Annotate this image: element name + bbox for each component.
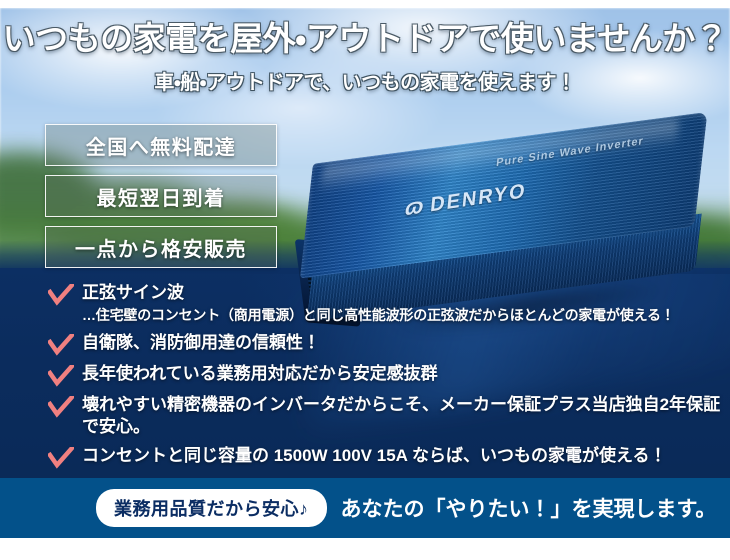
feature-title: 長年使われている業務用対応だから安定感抜群	[82, 364, 438, 383]
feature-item-sine-wave: 正弦サイン波 …住宅壁のコンセント（商用電源）と同じ高性能波形の正弦波だからほと…	[48, 282, 728, 325]
denryo-logo-icon: ɷ	[404, 192, 427, 222]
sub-headline: 車・船・アウトドアで、いつもの家電を使えます！	[0, 66, 730, 95]
benefit-badge-label: 最短翌日到着	[97, 182, 226, 211]
feature-title: 自衛隊、消防御用達の信頼性！	[82, 333, 320, 352]
check-icon	[48, 396, 74, 418]
benefit-badge-free-delivery: 全国へ無料配達	[45, 124, 277, 166]
benefit-badge-next-day: 最短翌日到着	[45, 175, 277, 217]
bottom-white-margin	[0, 538, 730, 560]
feature-description: …住宅壁のコンセント（商用電源）と同じ高性能波形の正弦波だからほとんどの家電が使…	[82, 306, 728, 325]
promo-banner: ɷDENRYO Pure Sine Wave Inverter いつもの家電を屋…	[0, 0, 730, 560]
feature-list: 正弦サイン波 …住宅壁のコンセント（商用電源）と同じ高性能波形の正弦波だからほと…	[48, 282, 728, 476]
benefit-badge-label: 一点から格安販売	[75, 233, 247, 262]
check-icon	[48, 447, 74, 469]
footer-tagline: あなたの「やりたい！」を実現します。	[341, 493, 717, 523]
top-white-margin	[0, 0, 730, 8]
benefit-badge-list: 全国へ無料配達 最短翌日到着 一点から格安販売	[45, 124, 277, 277]
feature-title: 壊れやすい精密機器のインバータだからこそ、メーカー保証プラス当店独自2年保証で安…	[82, 395, 720, 436]
check-icon	[48, 284, 74, 306]
feature-item-reliability: 自衛隊、消防御用達の信頼性！	[48, 332, 728, 356]
check-icon	[48, 365, 74, 387]
feature-item-stability: 長年使われている業務用対応だから安定感抜群	[48, 363, 728, 387]
headline-block: いつもの家電を屋外・アウトドアで使いませんか？ 車・船・アウトドアで、いつもの家…	[0, 20, 730, 95]
footer-bar: 業務用品質だから安心♪ あなたの「やりたい！」を実現します。	[0, 478, 730, 538]
feature-title: 正弦サイン波	[82, 283, 184, 302]
benefit-badge-label: 全国へ無料配達	[86, 131, 237, 160]
benefit-badge-single-unit: 一点から格安販売	[45, 226, 277, 268]
check-icon	[48, 334, 74, 356]
feature-item-capacity: コンセントと同じ容量の 1500W 100V 15A ならば、いつもの家電が使え…	[48, 445, 728, 469]
feature-title: コンセントと同じ容量の 1500W 100V 15A ならば、いつもの家電が使え…	[82, 446, 667, 465]
footer-quality-pill: 業務用品質だから安心♪	[96, 489, 327, 527]
feature-item-warranty: 壊れやすい精密機器のインバータだからこそ、メーカー保証プラス当店独自2年保証で安…	[48, 394, 728, 438]
main-headline: いつもの家電を屋外・アウトドアで使いませんか？	[0, 20, 730, 59]
